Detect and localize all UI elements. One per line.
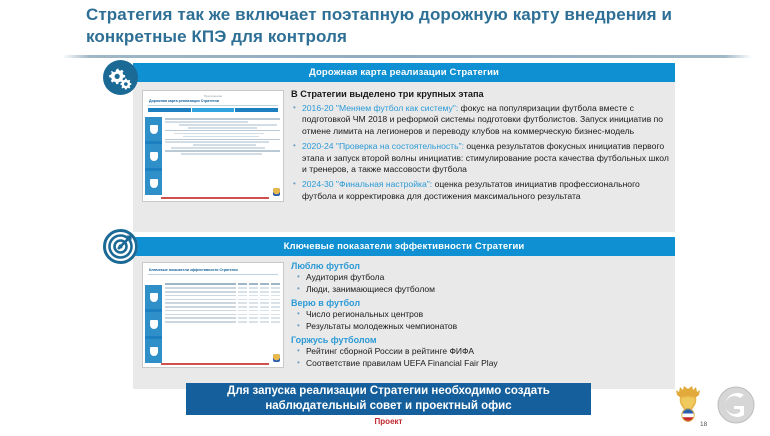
table-row bbox=[165, 302, 280, 304]
bullet-highlight: 2024-30 "Финальная настройка": bbox=[302, 179, 432, 189]
kpi-item-list: Аудитория футбола Люди, занимающиеся фут… bbox=[291, 272, 669, 295]
thumb-cell bbox=[271, 299, 280, 301]
table-row bbox=[165, 295, 280, 297]
page-title: Стратегия так же включает поэтапную доро… bbox=[86, 4, 686, 48]
thumb-cell bbox=[260, 314, 269, 316]
kpi-group: Горжусь футболом Рейтинг сборной России … bbox=[291, 335, 669, 369]
thumb-row bbox=[165, 150, 280, 152]
kpi-group: Верю в футбол Число региональных центров… bbox=[291, 298, 669, 332]
thumb-side-item bbox=[145, 144, 162, 168]
kpi-panel: Ключевые показатели эффективности Страте… bbox=[133, 237, 675, 389]
thumb-side-column bbox=[145, 117, 162, 193]
rfu-eagle-emblem bbox=[676, 386, 700, 422]
list-item: Результаты молодежных чемпионатов bbox=[291, 321, 669, 332]
thumb-cell bbox=[260, 321, 269, 323]
thumb-cell bbox=[249, 295, 258, 297]
thumb-cell bbox=[238, 321, 247, 323]
thumb-cell bbox=[165, 317, 236, 319]
thumb-cell bbox=[165, 314, 236, 316]
thumb-cell bbox=[249, 321, 258, 323]
conclusion-banner: Для запуска реализации Стратегии необход… bbox=[186, 383, 591, 415]
thumb-cell bbox=[271, 287, 280, 289]
kpi-group-title: Верю в футбол bbox=[291, 298, 669, 308]
table-row bbox=[165, 299, 280, 301]
shield-icon bbox=[150, 347, 158, 356]
thumb-row bbox=[171, 147, 265, 149]
thumb-cell bbox=[260, 299, 269, 301]
table-row bbox=[165, 287, 280, 289]
roadmap-panel: Дорожная карта реализации Стратегии Прил… bbox=[133, 63, 675, 232]
shield-icon bbox=[150, 152, 158, 161]
thumb-cell bbox=[238, 314, 247, 316]
table-row bbox=[165, 317, 280, 319]
thumb-title: Дорожная карта реализации Стратегии bbox=[149, 99, 283, 103]
table-row bbox=[165, 321, 280, 323]
roadmap-bullet-list: 2016-20 "Меняем футбол как систему": фок… bbox=[291, 103, 669, 202]
thumb-cell bbox=[260, 302, 269, 304]
list-item: Аудитория футбола bbox=[291, 272, 669, 283]
slide: Стратегия так же включает поэтапную доро… bbox=[0, 0, 770, 434]
thumb-cell bbox=[249, 302, 258, 304]
shield-icon bbox=[150, 320, 158, 329]
thumb-divider bbox=[148, 105, 278, 106]
thumb-cell bbox=[249, 287, 258, 289]
thumb-footnote-line bbox=[161, 197, 269, 199]
thumb-title: Ключевые показатели эффективности Страте… bbox=[149, 268, 283, 272]
thumb-cell bbox=[271, 310, 280, 312]
shield-icon bbox=[150, 293, 158, 302]
gears-icon bbox=[103, 60, 138, 95]
thumb-cell bbox=[260, 317, 269, 319]
kpi-text: Люблю футбол Аудитория футбола Люди, зан… bbox=[291, 261, 669, 372]
thumb-cell bbox=[260, 291, 269, 293]
thumb-emblem-icon bbox=[273, 188, 280, 196]
thumb-phase-tab bbox=[235, 108, 278, 112]
list-item: Соответствие правилам UEFA Financial Fai… bbox=[291, 358, 669, 369]
thumb-kicker: Приложение bbox=[143, 94, 283, 98]
table-row bbox=[165, 314, 280, 316]
thumb-cell bbox=[249, 310, 258, 312]
thumb-cell bbox=[165, 299, 236, 301]
company-g-logo bbox=[718, 387, 754, 423]
thumb-cell bbox=[238, 283, 247, 285]
thumb-row bbox=[165, 130, 280, 132]
kpi-group: Люблю футбол Аудитория футбола Люди, зан… bbox=[291, 261, 669, 295]
thumb-cell bbox=[165, 310, 236, 312]
thumb-phase-tab bbox=[192, 108, 235, 112]
thumb-row bbox=[179, 124, 277, 126]
draft-label: Проект bbox=[186, 417, 591, 426]
thumb-cell bbox=[271, 321, 280, 323]
kpi-group-title: Люблю футбол bbox=[291, 261, 669, 271]
thumb-phase-tabs bbox=[148, 108, 278, 112]
thumb-row bbox=[165, 141, 269, 143]
thumb-row bbox=[188, 127, 257, 129]
list-item: Рейтинг сборной России в рейтинге ФИФА bbox=[291, 346, 669, 357]
thumb-cell bbox=[238, 302, 247, 304]
thumb-side-item bbox=[145, 339, 162, 363]
thumb-cell bbox=[260, 310, 269, 312]
list-item: 2020-24 "Проверка на состоятельность": о… bbox=[291, 141, 669, 175]
thumb-row bbox=[165, 118, 280, 120]
thumb-side-item bbox=[145, 285, 162, 309]
thumb-cell bbox=[260, 283, 269, 285]
roadmap-lead: В Стратегии выделено три крупных этапа bbox=[291, 89, 669, 99]
title-divider bbox=[62, 55, 752, 58]
kpi-group-title: Горжусь футболом bbox=[291, 335, 669, 345]
roadmap-text: В Стратегии выделено три крупных этапа 2… bbox=[291, 89, 669, 206]
thumb-cell bbox=[249, 317, 258, 319]
thumb-cell bbox=[238, 295, 247, 297]
thumb-emblem-icon bbox=[273, 354, 280, 362]
roadmap-panel-header: Дорожная карта реализации Стратегии bbox=[133, 63, 675, 82]
roadmap-thumbnail[interactable]: Приложение Дорожная карта реализации Стр… bbox=[142, 90, 284, 202]
thumb-chart-area bbox=[165, 117, 280, 193]
thumb-cell bbox=[165, 291, 236, 293]
thumb-side-item bbox=[145, 117, 162, 141]
list-item: 2024-30 "Финальная настройка": оценка ре… bbox=[291, 179, 669, 202]
target-icon bbox=[103, 229, 138, 264]
kpi-panel-header: Ключевые показатели эффективности Страте… bbox=[133, 237, 675, 256]
thumb-cell bbox=[165, 321, 236, 323]
thumb-phase-tab bbox=[148, 108, 191, 112]
thumb-row bbox=[181, 153, 262, 155]
thumb-cell bbox=[165, 306, 236, 308]
thumb-table-header-row bbox=[165, 283, 280, 285]
thumb-cell bbox=[249, 291, 258, 293]
thumb-side-column bbox=[145, 285, 162, 359]
thumb-cell bbox=[271, 306, 280, 308]
thumb-cell bbox=[238, 317, 247, 319]
thumb-cell bbox=[260, 287, 269, 289]
thumb-cell bbox=[271, 317, 280, 319]
thumb-row bbox=[165, 121, 248, 123]
thumb-side-item bbox=[145, 312, 162, 336]
thumb-cell bbox=[238, 287, 247, 289]
thumb-cell bbox=[271, 302, 280, 304]
thumb-cell bbox=[249, 306, 258, 308]
thumb-cell bbox=[238, 310, 247, 312]
thumb-cell bbox=[271, 295, 280, 297]
bullet-highlight: 2016-20 "Меняем футбол как систему": bbox=[302, 103, 458, 113]
thumb-row bbox=[174, 133, 264, 135]
shield-icon bbox=[150, 125, 158, 134]
bullet-highlight: 2020-24 "Проверка на состоятельность": bbox=[302, 141, 464, 151]
list-item: 2016-20 "Меняем футбол как систему": фок… bbox=[291, 103, 669, 137]
thumb-cell bbox=[249, 314, 258, 316]
kpi-thumbnail[interactable]: Ключевые показатели эффективности Страте… bbox=[142, 262, 284, 368]
thumb-cell bbox=[271, 314, 280, 316]
thumb-cell bbox=[165, 295, 236, 297]
shield-icon bbox=[150, 179, 158, 188]
kpi-panel-body: Ключевые показатели эффективности Страте… bbox=[133, 256, 675, 389]
thumb-divider bbox=[148, 274, 278, 275]
page-number: 18 bbox=[700, 421, 707, 428]
thumb-cell bbox=[165, 287, 236, 289]
thumb-row bbox=[165, 139, 280, 141]
kpi-item-list: Число региональных центров Результаты мо… bbox=[291, 309, 669, 332]
thumb-row bbox=[183, 136, 259, 138]
thumb-cell bbox=[260, 295, 269, 297]
kpi-item-list: Рейтинг сборной России в рейтинге ФИФА С… bbox=[291, 346, 669, 369]
thumb-cell bbox=[249, 283, 258, 285]
list-item: Люди, занимающиеся футболом bbox=[291, 284, 669, 295]
thumb-cell bbox=[271, 291, 280, 293]
thumb-cell bbox=[165, 302, 236, 304]
thumb-cell bbox=[238, 299, 247, 301]
roadmap-panel-body: Приложение Дорожная карта реализации Стр… bbox=[133, 82, 675, 232]
thumb-footnote-line bbox=[161, 363, 269, 365]
thumb-table bbox=[165, 283, 280, 357]
thumb-cell bbox=[271, 283, 280, 285]
table-row bbox=[165, 291, 280, 293]
logo-group bbox=[666, 383, 766, 431]
thumb-row bbox=[193, 144, 256, 146]
thumb-side-item bbox=[145, 171, 162, 195]
list-item: Число региональных центров bbox=[291, 309, 669, 320]
thumb-cell bbox=[165, 283, 236, 285]
table-row bbox=[165, 310, 280, 312]
thumb-cell bbox=[249, 299, 258, 301]
thumb-cell bbox=[238, 291, 247, 293]
thumb-cell bbox=[260, 306, 269, 308]
table-row bbox=[165, 306, 280, 308]
thumb-cell bbox=[238, 306, 247, 308]
